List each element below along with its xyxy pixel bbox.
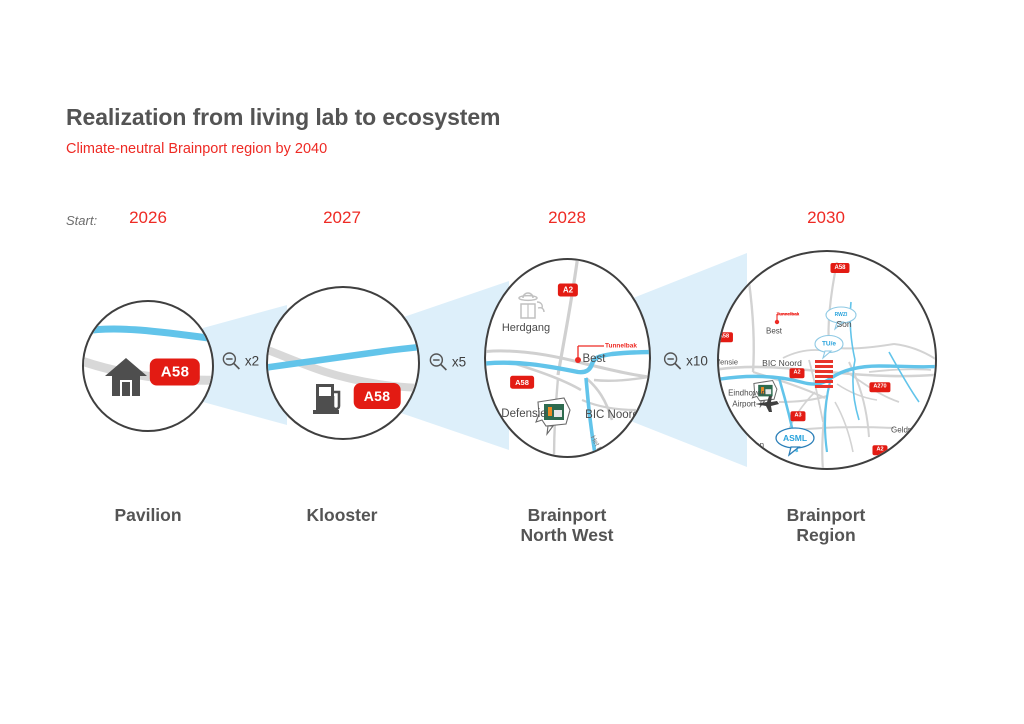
stage-circle-klooster[interactable]: A58 [266, 286, 420, 440]
road-badge-a58-klooster: A58 [354, 383, 401, 409]
stage-caption-pavilion: Pavilion [114, 506, 181, 526]
map-label-asml: ASML [783, 433, 807, 443]
map-label-geldrop-br: Geldro [891, 426, 915, 435]
timeline-year-2026: 2026 [129, 208, 167, 228]
road-shield-a58-left-br: A58 [717, 332, 733, 342]
farmer-icon [519, 293, 544, 318]
stage-caption-brainport-region: Brainport Region [787, 506, 866, 546]
page-title: Realization from living lab to ecosystem [66, 104, 500, 131]
timeline-start-label: Start: [66, 213, 97, 228]
stage-circle-brainport-region[interactable]: A58 Tunnelbak Best Son A58 fensie BIC No… [717, 250, 937, 470]
timeline-year-2028: 2028 [548, 208, 586, 228]
road-shield-a3-br: A3 [790, 411, 805, 421]
map-label-bic-noord-br: BIC Noord [762, 358, 802, 368]
timeline: Start: 2026 2027 2028 2030 [0, 208, 1024, 238]
zoom-factor-label-x5: x5 [452, 355, 466, 370]
zoom-factor-label-x10: x10 [686, 354, 708, 369]
road-shield-a2-bottom-br: A2 [872, 445, 887, 455]
stage-circle-pavilion[interactable]: A58 [82, 300, 214, 432]
road-shield-a2-br: A2 [789, 368, 804, 378]
timeline-year-2030: 2030 [807, 208, 845, 228]
map-label-tue: TU/e [822, 341, 836, 348]
stage-caption-klooster: Klooster [307, 506, 378, 526]
header: Realization from living lab to ecosystem… [66, 104, 500, 157]
road-shield-a58-bnw: A58 [510, 376, 534, 389]
map-view-brainport-region [719, 252, 935, 468]
map-label-eindhoven-airport-line1: Eindhoven [728, 389, 766, 398]
zoom-indicator-x5[interactable]: x5 [428, 352, 466, 373]
zoom-factor-label-x2: x2 [245, 354, 259, 369]
page-subtitle: Climate-neutral Brainport region by 2040 [66, 141, 500, 157]
zoom-out-icon [221, 351, 242, 372]
map-label-eindhoven-br: dhoven [738, 441, 764, 450]
stage-circle-brainport-north-west[interactable]: A2 Herdgang Tunnelbak Best A58 Defensie … [484, 258, 651, 458]
zoom-indicator-x2[interactable]: x2 [221, 351, 259, 372]
map-label-bic-noord-bnw: BIC Noord [585, 409, 639, 421]
infographic-canvas: Realization from living lab to ecosystem… [0, 0, 1024, 724]
map-label-son-br: Son [836, 319, 851, 329]
stage-caption-brainport-north-west: Brainport North West [520, 506, 613, 546]
map-label-tunnelbak-br: Tunnelbak [777, 312, 800, 317]
road-shield-a2-bnw: A2 [558, 284, 578, 297]
timeline-year-2027: 2027 [323, 208, 361, 228]
road-shield-a58-top-br: A58 [830, 263, 849, 273]
zoom-indicator-x10[interactable]: x10 [662, 351, 708, 372]
map-graphic-brainport-region [719, 252, 937, 470]
map-label-herdgang: Herdgang [502, 322, 550, 334]
map-label-best-bnw: Best [582, 353, 605, 365]
map-label-tunnelbak-bnw: Tunnelbak [605, 343, 637, 350]
map-label-eindhoven-airport-line2: Airport [732, 400, 756, 409]
zoom-out-icon [428, 352, 449, 373]
map-label-best-br: Best [766, 327, 782, 336]
map-label-defensie-br: fensie [718, 358, 738, 367]
zoom-out-icon [662, 351, 683, 372]
map-view-klooster [268, 288, 418, 438]
map-graphic-klooster [268, 288, 420, 440]
road-shield-a270-br: A270 [869, 382, 890, 392]
map-label-defensie-bnw: Defensie [501, 408, 546, 420]
fuel-pump-icon [313, 384, 339, 414]
road-badge-a58-pavilion: A58 [150, 359, 200, 386]
map-label-rwzi: RWZI [835, 312, 848, 318]
